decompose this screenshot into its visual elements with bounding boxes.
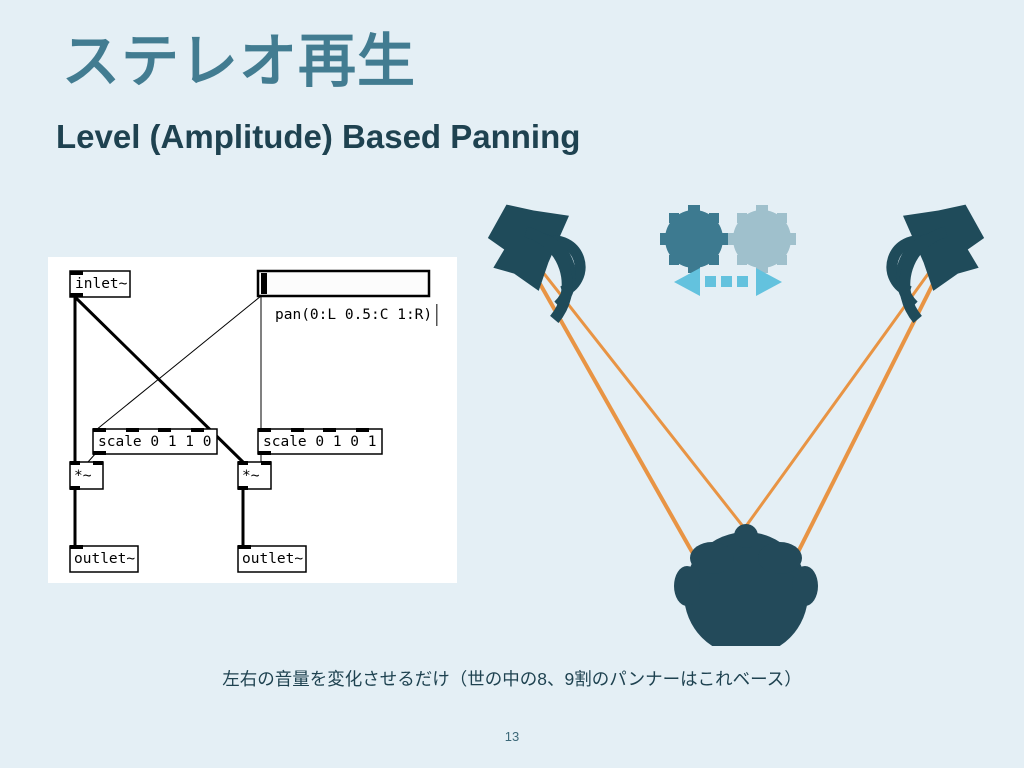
pd-label-scale-right: scale 0 1 0 1 bbox=[263, 435, 377, 450]
stereo-listening-diagram bbox=[462, 186, 1010, 646]
slide-caption: 左右の音量を変化させるだけ（世の中の8、9割のパンナーはこれベース） bbox=[0, 666, 1024, 691]
pd-comment-caret bbox=[436, 304, 438, 326]
pd-label-inlet: inlet~ bbox=[75, 277, 127, 292]
ray-left-speaker-to-left-ear bbox=[514, 238, 708, 580]
slide: ステレオ再生 Level (Amplitude) Based Panning bbox=[0, 0, 1024, 768]
pd-label-pan-comment: pan(0:L 0.5:C 1:R) bbox=[275, 308, 432, 323]
phantom-source-light-icon bbox=[728, 205, 796, 273]
ray-right-speaker-to-right-ear bbox=[784, 238, 956, 580]
pd-hslider[interactable] bbox=[258, 271, 429, 296]
phantom-source-dark-icon bbox=[660, 205, 728, 273]
sound-ray-group bbox=[514, 238, 956, 580]
pd-label-scale-left: scale 0 1 1 0 bbox=[98, 435, 212, 450]
page-number: 13 bbox=[0, 729, 1024, 744]
pd-label-multiply-left: *~ bbox=[74, 469, 91, 484]
puredata-patch-graphics bbox=[48, 257, 457, 583]
pd-label-multiply-right: *~ bbox=[242, 469, 259, 484]
left-speaker-icon bbox=[476, 187, 598, 332]
pd-label-outlet-right: outlet~ bbox=[242, 552, 303, 567]
pd-label-outlet-left: outlet~ bbox=[74, 552, 135, 567]
page-subtitle: Level (Amplitude) Based Panning bbox=[56, 118, 580, 156]
right-speaker-icon bbox=[874, 187, 996, 332]
listener-head-icon bbox=[674, 524, 818, 646]
page-title: ステレオ再生 bbox=[62, 32, 416, 93]
puredata-patch-panel: inlet~ pan(0:L 0.5:C 1:R) scale 0 1 1 0 … bbox=[48, 257, 457, 583]
